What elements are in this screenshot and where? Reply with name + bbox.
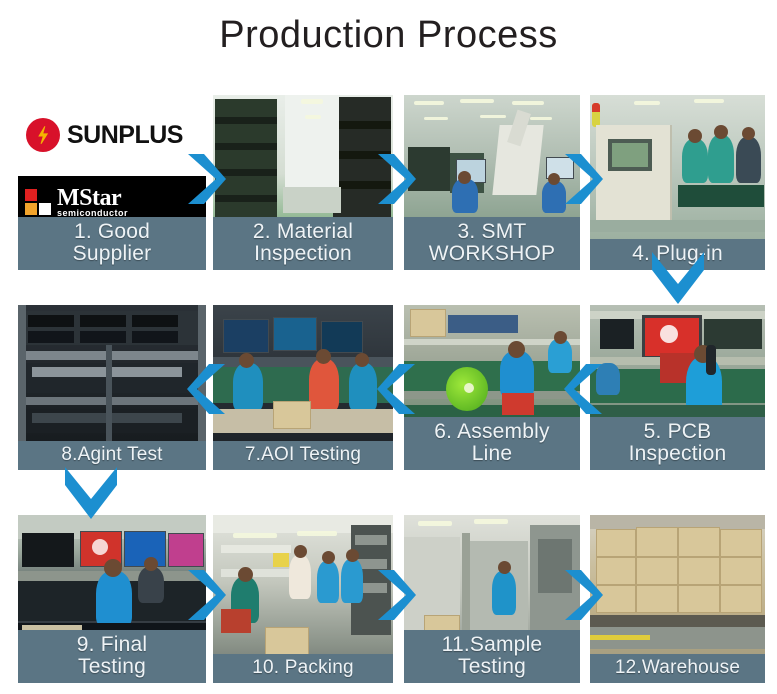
arrow-9-to-10 <box>186 568 228 622</box>
step-card-3[interactable]: 3. SMT WORKSHOP <box>404 95 580 270</box>
arrow-2-to-3 <box>376 152 418 206</box>
arrow-7-to-8 <box>185 362 227 416</box>
sunplus-logo-text: SUNPLUS <box>67 121 183 150</box>
arrow-10-to-11 <box>376 568 418 622</box>
mstar-logo-icon <box>25 189 51 215</box>
step-3-label: 3. SMT WORKSHOP <box>404 217 580 271</box>
arrow-6-to-7 <box>375 362 417 416</box>
step-card-6[interactable]: 6. Assembly Line <box>404 305 580 470</box>
sunplus-logo-icon <box>26 118 60 152</box>
page-title: Production Process <box>0 14 777 57</box>
step-card-7[interactable]: 7.AOI Testing <box>213 305 393 470</box>
step-card-9[interactable]: 9. Final Testing <box>18 515 206 683</box>
step-card-11[interactable]: 11.Sample Testing <box>404 515 580 683</box>
step-card-5[interactable]: 5. PCB Inspection <box>590 305 765 470</box>
step-7-label: 7.AOI Testing <box>213 441 393 470</box>
step-1-label: 1. Good Supplier <box>18 217 206 271</box>
step-9-label: 9. Final Testing <box>18 630 206 684</box>
arrow-5-to-6 <box>562 362 604 416</box>
step-5-label: 5. PCB Inspection <box>590 417 765 471</box>
arrow-4-to-5 <box>650 250 706 312</box>
sunplus-logo: SUNPLUS <box>18 95 206 176</box>
step-card-12[interactable]: 12.Warehouse <box>590 515 765 683</box>
step-11-label: 11.Sample Testing <box>404 630 580 684</box>
step-card-4[interactable]: 4. Plug-in <box>590 95 765 270</box>
step-6-label: 6. Assembly Line <box>404 417 580 471</box>
arrow-11-to-12 <box>563 568 605 622</box>
arrow-1-to-2 <box>186 152 228 206</box>
production-process-flowchart: SUNPLUS MStar semiconductor 1. Good Supp… <box>0 90 777 694</box>
arrow-8-to-9 <box>63 465 119 527</box>
arrow-3-to-4 <box>563 152 605 206</box>
step-card-2[interactable]: 2. Material Inspection <box>213 95 393 270</box>
step-12-label: 12.Warehouse <box>590 654 765 683</box>
mstar-logo-text: MStar semiconductor <box>57 187 128 217</box>
step-10-label: 10. Packing <box>213 654 393 683</box>
step-card-10[interactable]: 10. Packing <box>213 515 393 683</box>
step-card-8[interactable]: 8.Agint Test <box>18 305 206 470</box>
step-2-label: 2. Material Inspection <box>213 217 393 271</box>
step-card-1[interactable]: SUNPLUS MStar semiconductor 1. Good Supp… <box>18 95 206 270</box>
